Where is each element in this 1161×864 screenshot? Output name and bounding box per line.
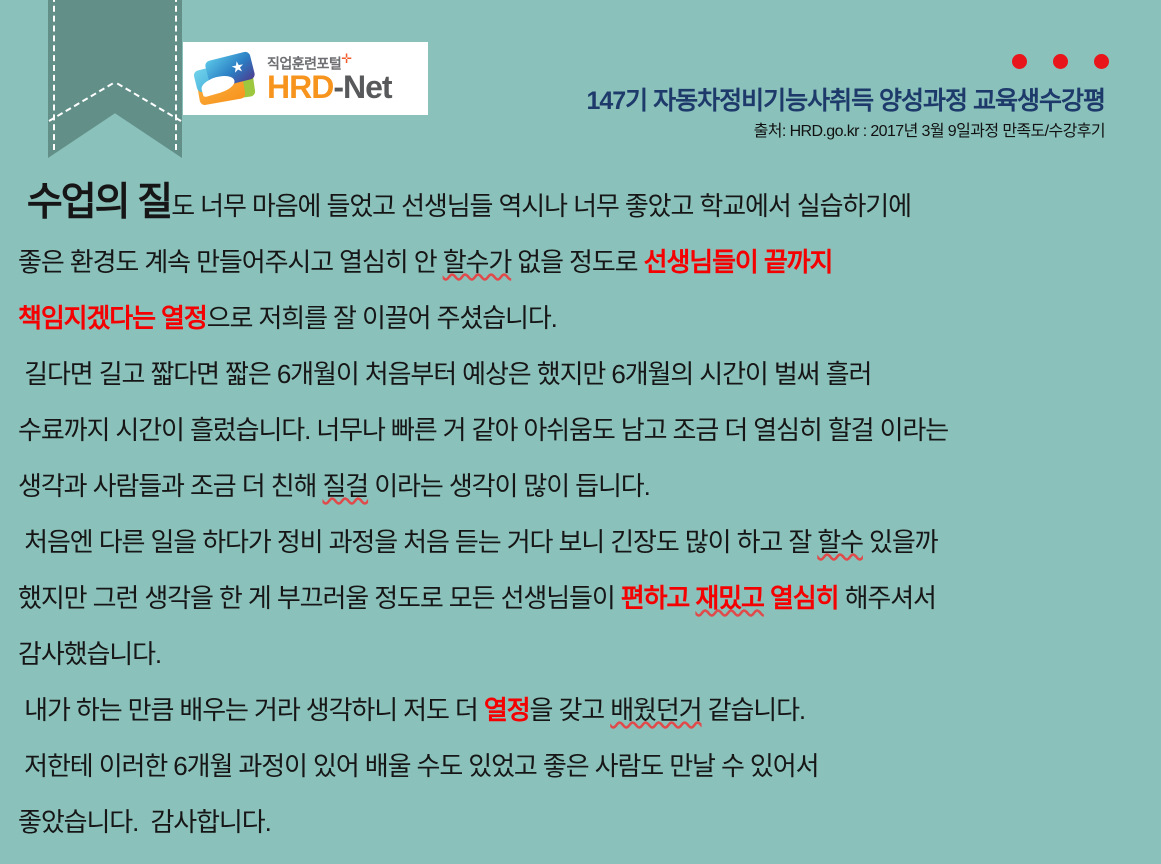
review-line: 처음엔 다른 일을 하다가 정비 과정을 처음 듣는 거다 보니 긴장도 많이 … xyxy=(18,514,1151,570)
header-dot-1 xyxy=(1012,54,1027,69)
review-lead-phrase: 수업의 질 xyxy=(18,181,171,224)
review-text-segment: 했지만 그런 생각을 한 게 부끄러울 정도로 모든 선생님들이 xyxy=(18,583,621,613)
review-line: 저한테 이러한 6개월 과정이 있어 배울 수도 있었고 좋은 사람도 만날 수… xyxy=(18,738,1151,794)
page-subtitle-source: 출처: HRD.go.kr : 2017년 3월 9일과정 만족도/수강후기 xyxy=(586,122,1105,141)
hrd-net-logo-text: 직업훈련포털✛ HRD-Net xyxy=(267,52,392,105)
review-line: 감사했습니다. xyxy=(18,626,1151,682)
review-line: 내가 하는 만큼 배우는 거라 생각하니 저도 더 열정을 갖고 배웠던거 같습… xyxy=(18,682,1151,738)
review-text-body: 수업의 질도 너무 마음에 들었고 선생님들 역시나 너무 좋았고 학교에서 실… xyxy=(18,172,1151,850)
review-highlight-phrase: 열정 xyxy=(484,695,530,725)
review-highlight-phrase: 선생님들이 끝까지 xyxy=(644,247,833,277)
review-text-segment: 있을까 xyxy=(863,527,938,557)
header-dot-3 xyxy=(1094,54,1109,69)
page-title: 147기 자동차정비기능사취득 양성과정 교육생수강평 xyxy=(586,86,1105,116)
review-text-segment: 으로 저희를 잘 이끌어 주셨습니다. xyxy=(207,303,557,333)
review-line: 좋았습니다. 감사합니다. xyxy=(18,794,1151,850)
review-line: 했지만 그런 생각을 한 게 부끄러울 정도로 모든 선생님들이 편하고 재밌고… xyxy=(18,570,1151,626)
review-text-segment: 좋은 환경도 계속 만들어주시고 열심히 안 xyxy=(18,247,443,277)
header-text-block: 147기 자동차정비기능사취득 양성과정 교육생수강평 출처: HRD.go.k… xyxy=(586,86,1105,141)
review-line: 책임지겠다는 열정으로 저희를 잘 이끌어 주셨습니다. xyxy=(18,290,1151,346)
review-text-segment: 없을 정도로 xyxy=(511,247,643,277)
review-text-segment: 같습니다. xyxy=(702,695,806,725)
star-icon: ★ xyxy=(230,58,246,75)
header-dot-group xyxy=(1012,54,1109,69)
review-text-segment: 처음엔 다른 일을 하다가 정비 과정을 처음 듣는 거다 보니 긴장도 많이 … xyxy=(18,527,817,557)
spellcheck-underlined-word: 할수 xyxy=(817,527,863,557)
review-slide: { "theme": { "background": "#8ac1ba", "r… xyxy=(0,0,1161,864)
hrd-net-logo: ★ 직업훈련포털✛ HRD-Net xyxy=(183,42,428,115)
spellcheck-underlined-word: 배웠던거 xyxy=(610,695,701,725)
review-text-segment: 을 갖고 xyxy=(530,695,611,725)
logo-wordmark: HRD-Net xyxy=(267,71,392,105)
review-highlight-phrase: 책임지겠다는 열정 xyxy=(18,303,207,333)
review-text-segment: 해주셔서 xyxy=(838,583,935,613)
review-line: 수료까지 시간이 흘렀습니다. 너무나 빠른 거 같아 아쉬움도 남고 조금 더… xyxy=(18,402,1151,458)
review-line: 좋은 환경도 계속 만들어주시고 열심히 안 할수가 없을 정도로 선생님들이 … xyxy=(18,234,1151,290)
logo-wordmark-hrd: HRD xyxy=(267,69,333,105)
review-text-segment: 수료까지 시간이 흘렀습니다. 너무나 빠른 거 같아 아쉬움도 남고 조금 더… xyxy=(18,415,948,445)
review-text-segment: 내가 하는 만큼 배우는 거라 생각하니 저도 더 xyxy=(18,695,484,725)
plus-icon: ✛ xyxy=(341,51,351,66)
review-line: 길다면 길고 짧다면 짧은 6개월이 처음부터 예상은 했지만 6개월의 시간이… xyxy=(18,346,1151,402)
spellcheck-underlined-word: 할수가 xyxy=(443,247,511,277)
review-text-segment: 생각과 사람들과 조금 더 친해 xyxy=(18,471,322,501)
review-text-segment: 좋았습니다. 감사합니다. xyxy=(18,807,271,837)
logo-wordmark-net: -Net xyxy=(333,69,391,105)
review-highlight-phrase: 편하고 xyxy=(621,583,696,613)
review-highlight-phrase: 열심히 xyxy=(764,583,839,613)
spellcheck-underlined-word: 질걸 xyxy=(322,471,368,501)
review-text-segment: 길다면 길고 짧다면 짧은 6개월이 처음부터 예상은 했지만 6개월의 시간이… xyxy=(18,359,871,389)
review-text-segment: 저한테 이러한 6개월 과정이 있어 배울 수도 있었고 좋은 사람도 만날 수… xyxy=(18,751,818,781)
review-text-segment: 도 너무 마음에 들었고 선생님들 역시나 너무 좋았고 학교에서 실습하기에 xyxy=(171,191,911,221)
header-dot-2 xyxy=(1053,54,1068,69)
review-text-segment: 이라는 생각이 많이 듭니다. xyxy=(368,471,650,501)
ribbon-shape xyxy=(48,0,182,158)
review-line: 수업의 질도 너무 마음에 들었고 선생님들 역시나 너무 좋았고 학교에서 실… xyxy=(18,172,1151,234)
review-text-segment: 감사했습니다. xyxy=(18,639,161,669)
review-highlight-phrase: 재밌고 xyxy=(695,583,763,613)
hrd-net-logo-icon: ★ xyxy=(193,53,259,105)
decorative-ribbon xyxy=(48,0,182,158)
review-line: 생각과 사람들과 조금 더 친해 질걸 이라는 생각이 많이 듭니다. xyxy=(18,458,1151,514)
